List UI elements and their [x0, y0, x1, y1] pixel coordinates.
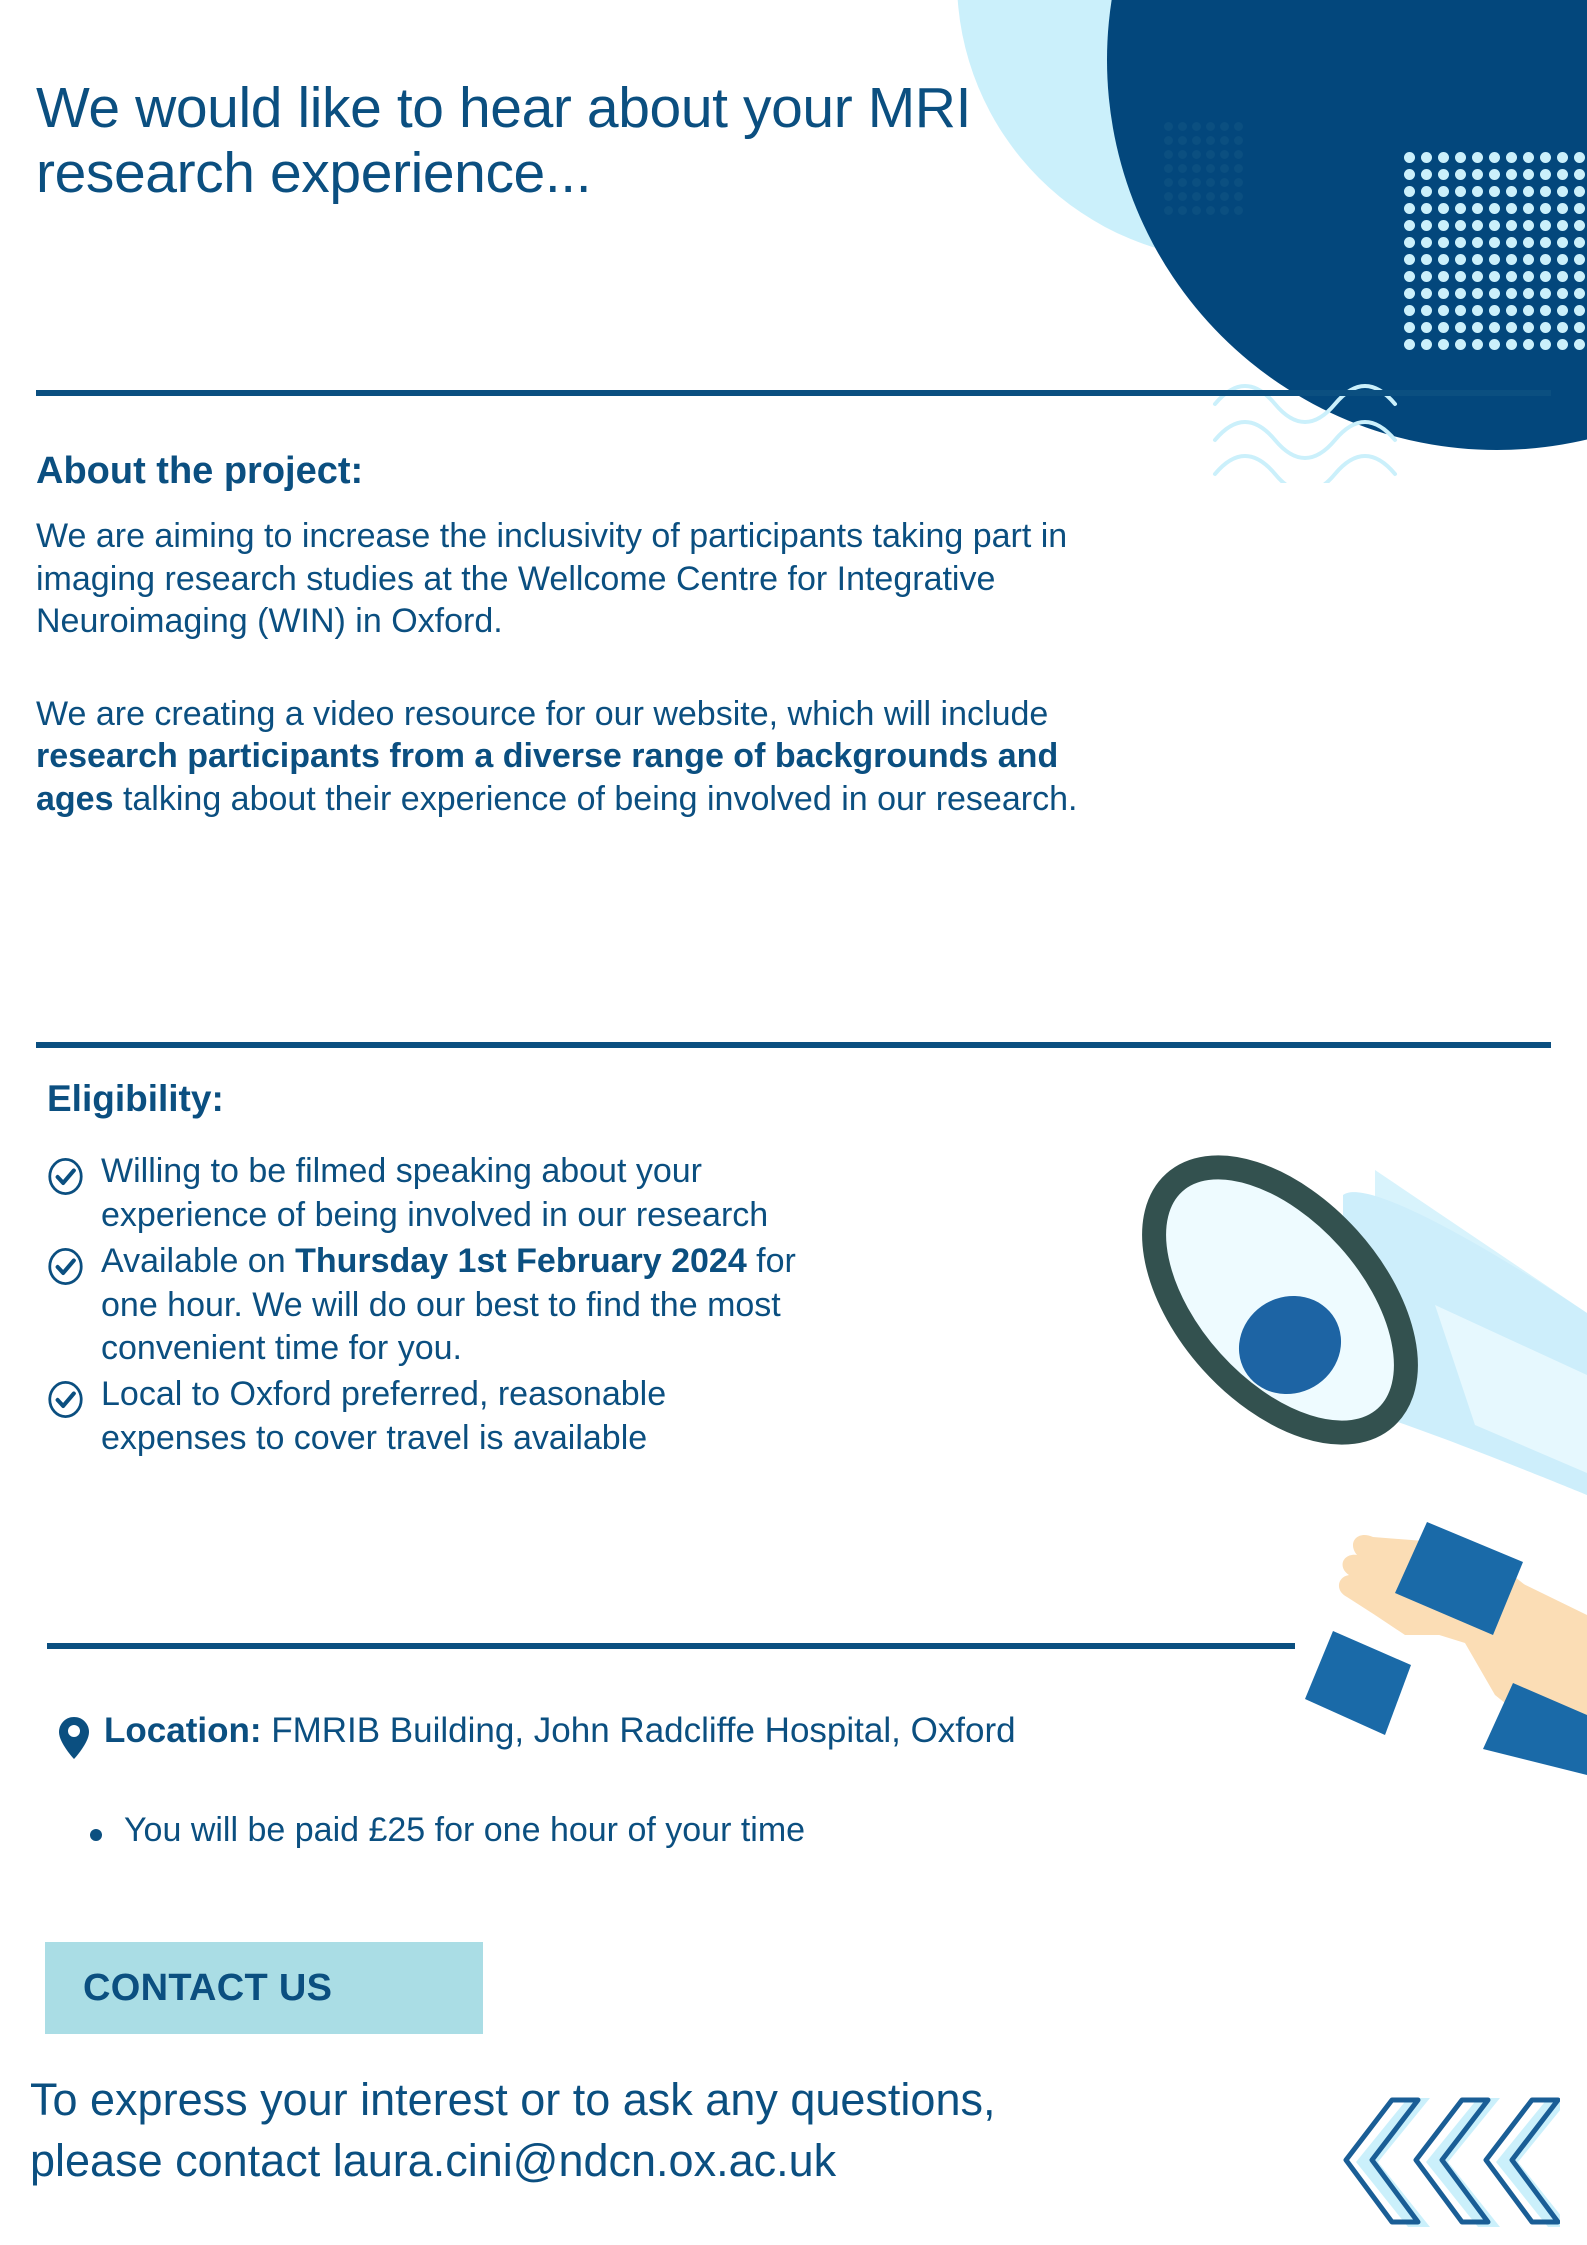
map-pin-icon: [58, 1716, 90, 1760]
payment-text: You will be paid £25 for one hour of you…: [124, 1810, 805, 1851]
contact-footer-line-2[interactable]: please contact laura.cini@ndcn.ox.ac.uk: [30, 2131, 1330, 2192]
about-title: About the project:: [36, 450, 1096, 493]
chevron-left-stack-icon: [1330, 2090, 1560, 2235]
eligibility-item-2-emphasis: Thursday 1st February 2024: [295, 1242, 747, 1280]
poster-root: We would like to hear about your MRI res…: [0, 0, 1587, 2245]
list-item-text: Local to Oxford preferred, reasonable ex…: [101, 1373, 801, 1461]
divider-bottom: [47, 1643, 1295, 1649]
dot-grid-light-icon: [1404, 152, 1587, 356]
contact-us-label: CONTACT US: [45, 1967, 332, 2010]
location-row: Location: FMRIB Building, John Radcliffe…: [58, 1712, 1358, 1760]
navy-corner-block: [1387, 0, 1587, 120]
contact-us-button[interactable]: CONTACT US: [45, 1942, 483, 2034]
check-circle-icon: [47, 1248, 84, 1285]
list-item-text: Available on Thursday 1st February 2024 …: [101, 1240, 801, 1372]
about-paragraph-2-tail: talking about their experience of being …: [114, 780, 1078, 818]
megaphone-icon: [1075, 1075, 1587, 1775]
eligibility-section: Eligibility: Willing to be filmed speaki…: [47, 1078, 1067, 1463]
eligibility-item-3-lead: Local to Oxford preferred, reasonable ex…: [101, 1375, 666, 1457]
eligibility-item-1-lead: Willing to be filmed speaking about your…: [101, 1152, 768, 1234]
bullet-icon: [90, 1829, 102, 1841]
location-value: FMRIB Building, John Radcliffe Hospital,…: [261, 1711, 1015, 1750]
list-item: Local to Oxford preferred, reasonable ex…: [47, 1373, 1067, 1461]
location-text: Location: FMRIB Building, John Radcliffe…: [104, 1712, 1016, 1751]
about-section: About the project: We are aiming to incr…: [36, 450, 1096, 820]
eligibility-list: Willing to be filmed speaking about your…: [47, 1150, 1067, 1461]
navy-blob: [1107, 0, 1587, 450]
check-circle-icon: [47, 1158, 84, 1195]
dot-grid-dark-icon: [1164, 122, 1248, 220]
payment-row: You will be paid £25 for one hour of you…: [90, 1810, 805, 1851]
eligibility-item-2-lead: Available on: [101, 1242, 295, 1280]
location-label: Location:: [104, 1711, 261, 1750]
divider-middle: [36, 1042, 1551, 1048]
list-item: Willing to be filmed speaking about your…: [47, 1150, 1067, 1238]
list-item-text: Willing to be filmed speaking about your…: [101, 1150, 801, 1238]
page-title: We would like to hear about your MRI res…: [36, 76, 1096, 205]
about-paragraph-1: We are aiming to increase the inclusivit…: [36, 515, 1096, 643]
eligibility-title: Eligibility:: [47, 1078, 1067, 1120]
list-item: Available on Thursday 1st February 2024 …: [47, 1240, 1067, 1372]
about-paragraph-2: We are creating a video resource for our…: [36, 693, 1096, 821]
about-paragraph-2-lead: We are creating a video resource for our…: [36, 695, 1048, 733]
contact-footer-line-1: To express your interest or to ask any q…: [30, 2070, 1330, 2131]
contact-footer: To express your interest or to ask any q…: [30, 2070, 1330, 2192]
check-circle-icon: [47, 1381, 84, 1418]
divider-top: [36, 390, 1551, 396]
